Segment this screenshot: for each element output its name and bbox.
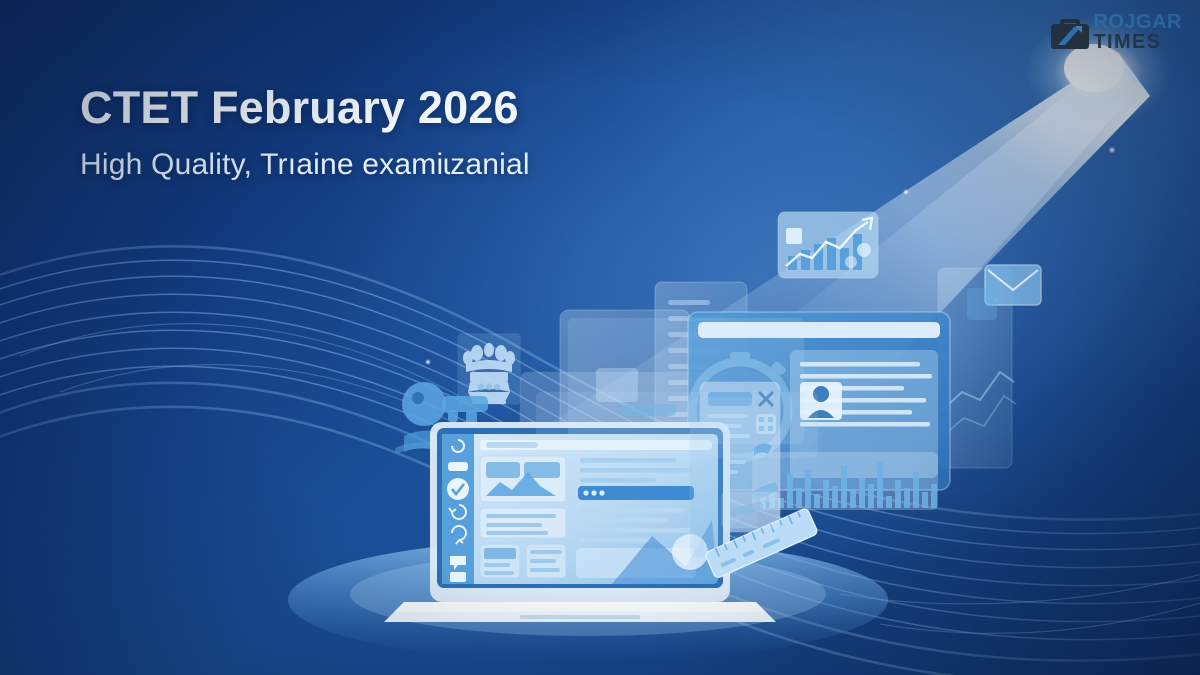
- briefcase-icon: [1048, 13, 1092, 51]
- logo-line1: ROJGAR: [1093, 12, 1182, 32]
- glass-overlays: [536, 318, 818, 458]
- page-subtitle: High Quality, Trıaine examiɩzanial: [80, 148, 530, 182]
- growth-chart-card: [778, 212, 878, 278]
- banner-stage: CTET February 2026 High Quality, Trıaine…: [0, 0, 1200, 675]
- ashoka-emblem: [458, 334, 520, 404]
- title-block: CTET February 2026 High Quality, Trıaine…: [80, 82, 530, 182]
- logo-line2: TIMES: [1093, 32, 1182, 52]
- logo[interactable]: ROJGAR TIMES: [1048, 12, 1182, 52]
- pen-card: [722, 492, 780, 528]
- page-title: CTET February 2026: [80, 82, 530, 134]
